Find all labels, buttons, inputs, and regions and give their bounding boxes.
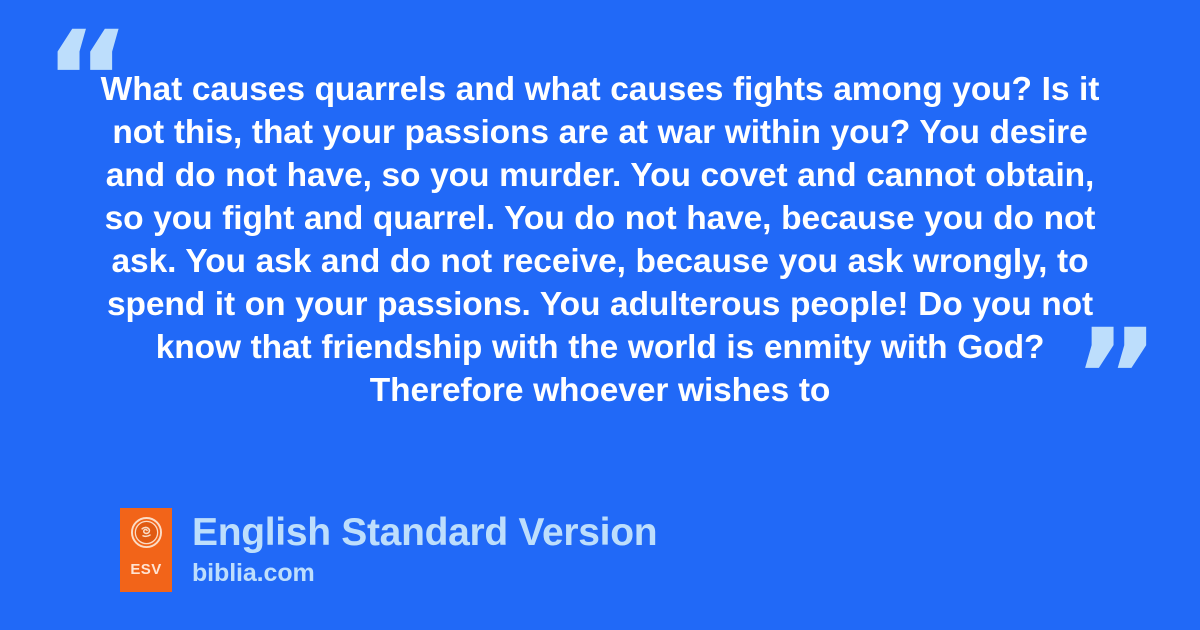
attribution-text-block: English Standard Version biblia.com — [192, 508, 657, 588]
scripture-quote-text: What causes quarrels and what causes fig… — [100, 68, 1100, 412]
esv-logo-badge: ESV — [120, 508, 172, 592]
quote-text-container: What causes quarrels and what causes fig… — [100, 68, 1100, 412]
bible-version-name: English Standard Version — [192, 510, 657, 556]
verse-share-card: “ ” What causes quarrels and what causes… — [0, 0, 1200, 630]
esv-logo-label: ESV — [130, 562, 161, 577]
attribution-block: ESV English Standard Version biblia.com — [120, 508, 657, 592]
site-url-label[interactable]: biblia.com — [192, 558, 657, 588]
esv-seal-icon — [131, 517, 162, 548]
